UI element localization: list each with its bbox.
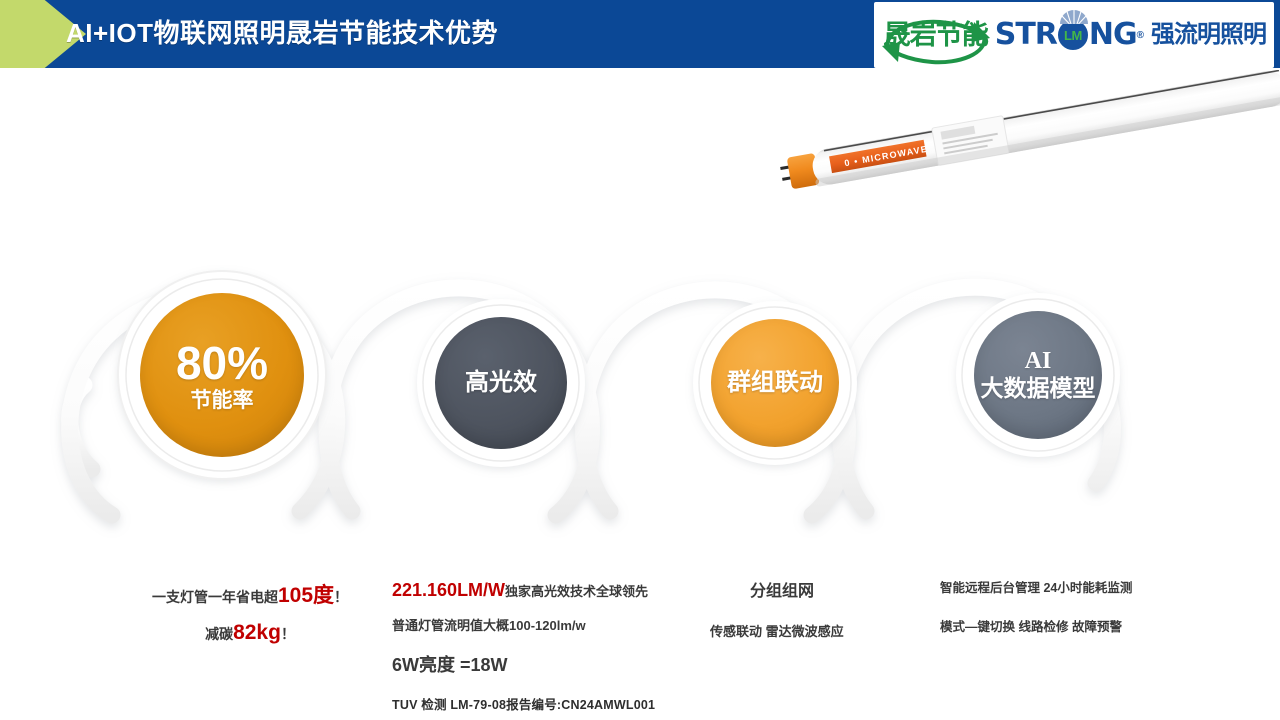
node-high-efficacy[interactable]: 高光效 (435, 317, 567, 449)
caption-1-line-2: 减碳82kg！ (110, 621, 390, 645)
caption-2-lumens-value: 221.160LM/W (392, 580, 505, 600)
node-energy-saving-label: 节能率 (191, 389, 254, 413)
caption-1-l2-number: 82kg (233, 621, 281, 644)
caption-group-linkage: 分组组网 传感联动 雷达微波感应 (710, 577, 940, 640)
caption-1-l1-suffix: ！ (334, 589, 348, 605)
product-tube-image: 0 • MICROWAVE (770, 70, 1280, 195)
caption-2-line-3: 6W亮度 =18W (392, 651, 722, 677)
slide-root: AI+IOT物联网照明晟岩节能技术优势 晟岩节能 STR (0, 0, 1280, 720)
node-group-linkage[interactable]: 群组联动 (711, 319, 839, 447)
caption-1-l1-prefix: 一支灯管一年省电超 (152, 589, 278, 605)
caption-energy-saving: 一支灯管一年省电超105度！ 减碳82kg！ (110, 585, 390, 645)
node-high-efficacy-disc: 高光效 (435, 317, 567, 449)
caption-1-line-1: 一支灯管一年省电超105度！ (110, 585, 390, 606)
node-energy-saving[interactable]: 80% 节能率 (140, 293, 304, 457)
caption-3-line-2: 传感联动 雷达微波感应 (710, 621, 940, 640)
caption-1-l2-prefix: 减碳 (205, 626, 233, 642)
logo-strong-suffix: NG (1089, 20, 1137, 50)
caption-4-line-1: 智能远程后台管理 24小时能耗监测 (940, 577, 1240, 596)
node-group-linkage-label: 群组联动 (727, 370, 823, 397)
logo-strong-prefix: STR (995, 20, 1057, 50)
node-group-linkage-disc: 群组联动 (711, 319, 839, 447)
node-ai-big-data-label: 大数据模型 (981, 376, 1096, 402)
infographic-stage: 80% 节能率 高光效 群组联动 AI 大数据模型 (0, 215, 1280, 545)
caption-4-line-2: 模式—键切换 线路检修 故障预警 (940, 616, 1240, 635)
caption-2-line-2: 普通灯管流明值大概100-120lm/w (392, 615, 722, 634)
node-high-efficacy-label: 高光效 (465, 370, 537, 397)
caption-1-l2-suffix: ！ (281, 626, 295, 642)
logo-cn-text: 晟岩节能 (884, 20, 988, 50)
registered-mark: ® (1137, 30, 1144, 41)
header-bar: AI+IOT物联网照明晟岩节能技术优势 晟岩节能 STR (0, 0, 1280, 68)
logo-strong-wordmark: STR LM NG ® (995, 20, 1144, 50)
caption-2-line-4: TUV 检测 LM-79-08报告编号:CN24AMWL001 (392, 694, 722, 713)
caption-high-efficacy: 221.160LM/W独家高光效技术全球领先 普通灯管流明值大概100-120l… (392, 580, 722, 713)
node-ai-big-data[interactable]: AI 大数据模型 (974, 311, 1102, 439)
caption-ai-big-data: 智能远程后台管理 24小时能耗监测 模式—键切换 线路检修 故障预警 (940, 577, 1240, 635)
node-ai-big-data-title: AI (1025, 348, 1052, 375)
logo-lm-circle-icon: LM (1058, 20, 1088, 50)
node-energy-saving-value: 80% (176, 338, 268, 390)
caption-3-line-1: 分组组网 (710, 577, 940, 601)
node-ai-big-data-disc: AI 大数据模型 (974, 311, 1102, 439)
logo-chinese-name: 晟岩节能 (884, 22, 988, 49)
logo-cn-subbrand: 强流明照明 (1151, 23, 1266, 47)
caption-1-l1-number: 105度 (278, 584, 334, 607)
node-energy-saving-disc: 80% 节能率 (140, 293, 304, 457)
logo-lm-text: LM (1064, 28, 1082, 43)
captions-area: 一支灯管一年省电超105度！ 减碳82kg！ 221.160LM/W独家高光效技… (0, 555, 1280, 720)
brand-logo: 晟岩节能 STR LM NG ® 强流明照明 (874, 2, 1274, 68)
page-title: AI+IOT物联网照明晟岩节能技术优势 (66, 13, 498, 50)
caption-2-lumens-note: 独家高光效技术全球领先 (505, 584, 648, 599)
caption-2-line-1: 221.160LM/W独家高光效技术全球领先 (392, 580, 722, 601)
logo-fan-arc-icon (1058, 7, 1090, 24)
